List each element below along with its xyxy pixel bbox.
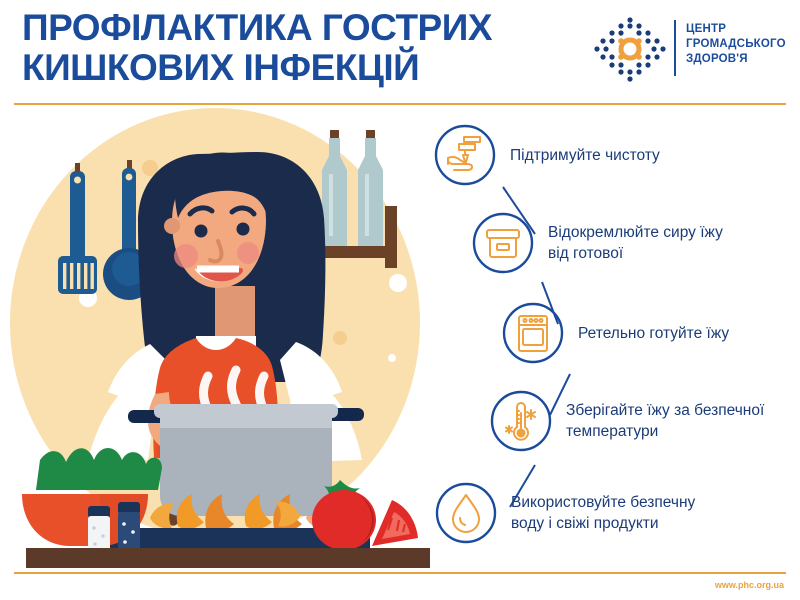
title-line-1: ПРОФІЛАКТИКА ГОСТРИХ — [22, 7, 492, 48]
checklist-item-3[interactable]: Ретельно готуйте їжу — [502, 302, 729, 364]
checklist-item-4-text: Зберігайте їжу за безпечної температури — [566, 400, 764, 442]
hand-wash-tap-icon — [434, 124, 496, 186]
woman-cooking-illustration — [0, 108, 430, 568]
kitchen-counter — [26, 548, 430, 568]
logo-text: ЦЕНТР ГРОМАДСЬКОГО ЗДОРОВ'Я — [686, 22, 786, 67]
pepper-shaker — [118, 502, 140, 554]
water-drop-icon — [435, 482, 497, 544]
checklist-item-2-text: Відокремлюйте сиру їжу від готової — [548, 222, 723, 264]
header: ПРОФІЛАКТИКА ГОСТРИХ КИШКОВИХ ІНФЕКЦІЙ — [0, 0, 800, 100]
page-title: ПРОФІЛАКТИКА ГОСТРИХ КИШКОВИХ ІНФЕКЦІЙ — [22, 8, 582, 88]
checklist-item-5[interactable]: Використовуйте безпечну воду і свіжі про… — [435, 482, 695, 544]
header-divider — [14, 103, 786, 105]
thermometer-snowflake-icon — [490, 390, 552, 452]
title-line-2: КИШКОВИХ ІНФЕКЦІЙ — [22, 48, 582, 88]
checklist-item-2[interactable]: Відокремлюйте сиру їжу від готової — [472, 212, 723, 274]
checklist-item-5-text: Використовуйте безпечну воду і свіжі про… — [511, 492, 695, 534]
glass-bottle — [358, 130, 383, 246]
stove-oven-icon — [502, 302, 564, 364]
logo-text-line-3: ЗДОРОВ'Я — [686, 52, 786, 67]
logo-divider — [674, 20, 676, 76]
tomato-slice — [372, 500, 418, 546]
infographic-page: ПРОФІЛАКТИКА ГОСТРИХ КИШКОВИХ ІНФЕКЦІЙ — [0, 0, 800, 600]
checklist-item-3-text: Ретельно готуйте їжу — [578, 323, 729, 344]
logo: ЦЕНТР ГРОМАДСЬКОГО ЗДОРОВ'Я — [594, 12, 794, 86]
prevention-checklist: Підтримуйте чистоту Відокремлюйте сиру ї… — [430, 112, 800, 567]
salt-shaker — [88, 506, 110, 554]
footer-divider — [14, 572, 786, 574]
logo-text-line-1: ЦЕНТР — [686, 22, 786, 37]
food-container-icon — [472, 212, 534, 274]
checklist-item-4[interactable]: Зберігайте їжу за безпечної температури — [490, 390, 764, 452]
logo-text-line-2: ГРОМАДСЬКОГО — [686, 37, 786, 52]
checklist-item-1[interactable]: Підтримуйте чистоту — [434, 124, 660, 186]
website-url[interactable]: www.phc.org.ua — [715, 580, 784, 590]
checklist-item-1-text: Підтримуйте чистоту — [510, 145, 660, 166]
logo-dot-mark-icon — [594, 14, 666, 84]
